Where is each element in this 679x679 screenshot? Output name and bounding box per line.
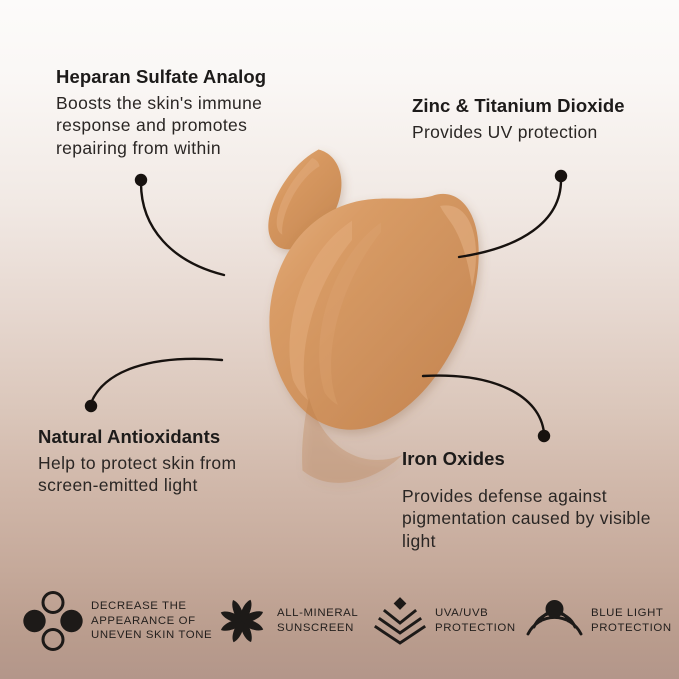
- benefit-label: ALL-MINERAL SUNSCREEN: [277, 606, 372, 635]
- connector-heparan: [141, 183, 224, 275]
- callout-natural-antioxidants: Natural Antioxidants Help to protect ski…: [38, 426, 288, 497]
- connector-dot-natural: [85, 400, 97, 412]
- connector-dot-zinc: [555, 170, 567, 182]
- benefit-label: UVA/UVB PROTECTION: [435, 606, 524, 635]
- callout-body: Boosts the skin's immune response and pr…: [56, 92, 316, 161]
- benefit-blue-light-protection: BLUE LIGHT PROTECTION: [524, 591, 661, 651]
- callout-body: Help to protect skin from screen-emitted…: [38, 452, 288, 498]
- benefit-uva-uvb-protection: UVA/UVB PROTECTION: [372, 593, 524, 649]
- radiating-arcs-icon: [524, 591, 584, 651]
- callout-body: Provides defense against pigmentation ca…: [402, 485, 652, 554]
- callout-title: Natural Antioxidants: [38, 426, 288, 449]
- flower-petals-icon: [214, 593, 270, 649]
- connector-dot-iron: [538, 430, 550, 442]
- nested-chevrons-icon: [372, 593, 428, 649]
- callout-iron-oxides: Iron Oxides Provides defense against pig…: [402, 448, 652, 553]
- benefit-all-mineral-sunscreen: ALL-MINERAL SUNSCREEN: [214, 593, 372, 649]
- callout-title: Heparan Sulfate Analog: [56, 66, 316, 89]
- connector-dot-heparan: [135, 174, 147, 186]
- benefit-bar: DECREASE THE APPEARANCE OF UNEVEN SKIN T…: [0, 569, 679, 679]
- benefit-decrease-uneven-skin-tone: DECREASE THE APPEARANCE OF UNEVEN SKIN T…: [22, 590, 214, 652]
- callout-title: Zinc & Titanium Dioxide: [412, 95, 662, 118]
- connector-iron: [423, 376, 544, 433]
- callout-heparan-sulfate-analog: Heparan Sulfate Analog Boosts the skin's…: [56, 66, 316, 160]
- connector-natural: [91, 359, 222, 403]
- callout-zinc-titanium-dioxide: Zinc & Titanium Dioxide Provides UV prot…: [412, 95, 662, 143]
- connector-zinc: [459, 180, 561, 257]
- four-circles-icon: [22, 590, 84, 652]
- benefit-label: BLUE LIGHT PROTECTION: [591, 606, 672, 635]
- benefit-label: DECREASE THE APPEARANCE OF UNEVEN SKIN T…: [91, 599, 214, 643]
- callout-body: Provides UV protection: [412, 121, 662, 144]
- product-benefits-infographic: Heparan Sulfate Analog Boosts the skin's…: [0, 0, 679, 679]
- callout-title: Iron Oxides: [402, 448, 652, 471]
